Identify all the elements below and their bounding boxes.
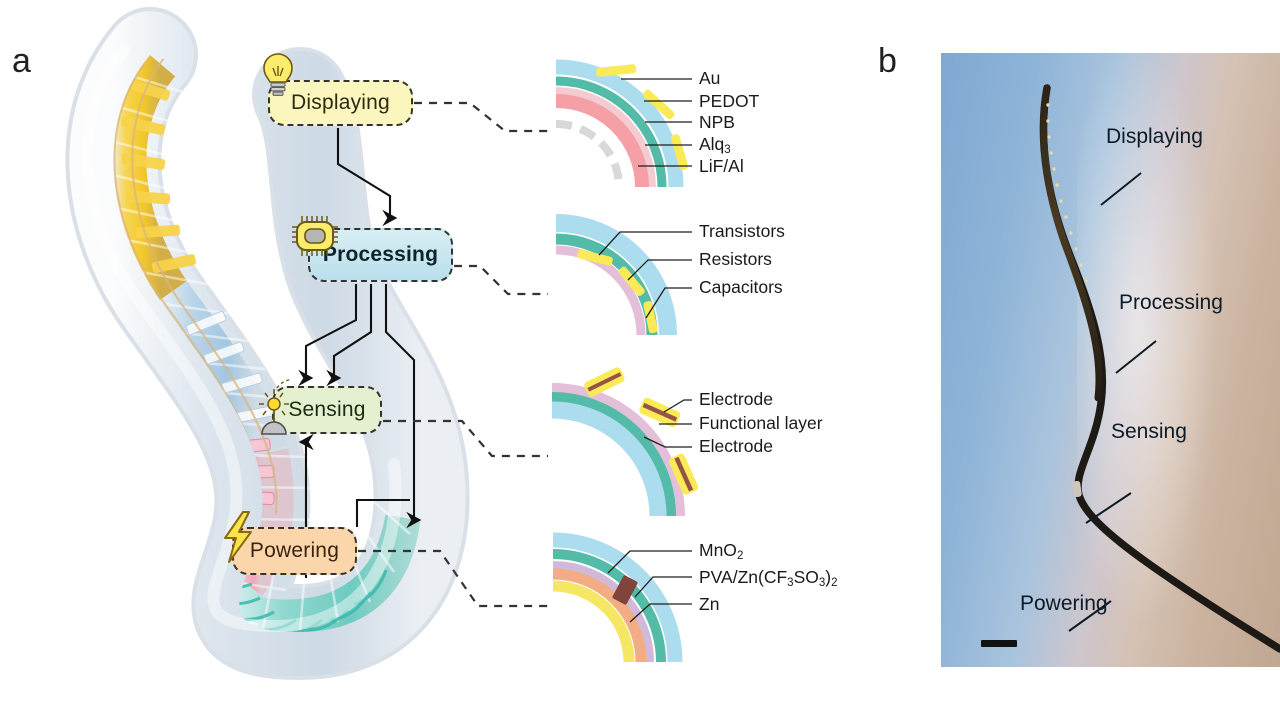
layer-stack-powering bbox=[553, 540, 692, 662]
stack-label-electrode-bottom: Electrode bbox=[699, 438, 773, 456]
panel-b-photograph: Displaying Processing Sensing Powering bbox=[941, 53, 1280, 667]
stack-label-lifal: LiF/Al bbox=[699, 158, 744, 176]
layer-stack-sensing bbox=[552, 366, 699, 516]
stack-label-pva-zn: PVA/Zn(CF3SO3)2 bbox=[699, 569, 838, 587]
stack-label-electrode-top: Electrode bbox=[699, 391, 773, 409]
layer-stack-processing bbox=[556, 223, 692, 335]
figure-canvas: a b bbox=[0, 0, 1280, 708]
stack-label-functional-layer: Functional layer bbox=[699, 415, 823, 433]
scale-bar bbox=[981, 640, 1017, 647]
stack-label-alq3: Alq3 bbox=[699, 136, 731, 154]
stack-label-npb: NPB bbox=[699, 114, 735, 132]
layer-stack-display bbox=[556, 64, 692, 187]
stack-label-mno2: MnO2 bbox=[699, 542, 743, 560]
stack-label-resistors: Resistors bbox=[699, 251, 772, 269]
stack-label-transistors: Transistors bbox=[699, 223, 785, 241]
photo-label-displaying: Displaying bbox=[1106, 126, 1203, 147]
stack-label-au: Au bbox=[699, 70, 720, 88]
stack-label-zn: Zn bbox=[699, 596, 719, 614]
photo-label-processing: Processing bbox=[1119, 292, 1223, 313]
stack-label-pedot: PEDOT bbox=[699, 93, 759, 111]
photo-label-sensing: Sensing bbox=[1111, 421, 1187, 442]
stack-label-capacitors: Capacitors bbox=[699, 279, 783, 297]
photo-label-powering: Powering bbox=[1020, 593, 1108, 614]
